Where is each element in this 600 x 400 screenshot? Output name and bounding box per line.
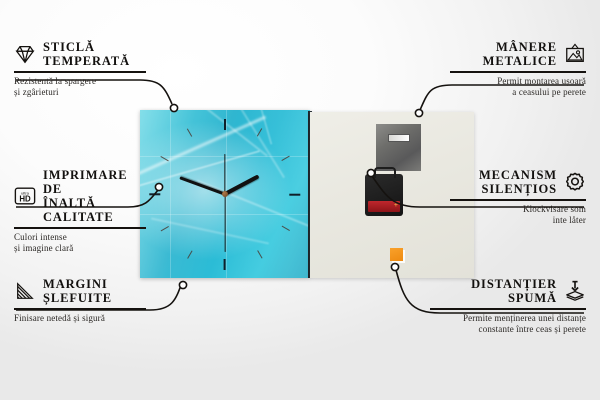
clock-tick bbox=[160, 156, 168, 162]
clock-center-cap bbox=[222, 191, 228, 197]
gear-icon bbox=[564, 171, 586, 193]
callout-title-line2: TEMPERATĂ bbox=[43, 54, 130, 68]
clock-face bbox=[140, 110, 310, 278]
clock-tick bbox=[160, 226, 168, 232]
bevelled-edge-icon bbox=[14, 280, 36, 302]
clock-tick bbox=[149, 194, 160, 196]
callout-title-line1: IMPRIMARE DE bbox=[43, 168, 146, 196]
callout-header: MECANISM SILENȚIOS bbox=[450, 168, 586, 196]
second-hand bbox=[224, 194, 225, 252]
callout-title-line1: MECANISM bbox=[479, 168, 557, 182]
foam-spacer-icon bbox=[564, 280, 586, 302]
clock-tick bbox=[281, 156, 289, 162]
clock-tick bbox=[187, 250, 193, 258]
callout-rule bbox=[14, 308, 146, 310]
clock-tick bbox=[224, 259, 226, 270]
callout-title-line2: SILENȚIOS bbox=[479, 182, 557, 196]
callout-header: MÂNERE METALICE bbox=[450, 40, 586, 68]
diamond-icon bbox=[14, 43, 36, 65]
callout-subtitle-line2: constante între ceas și perete bbox=[430, 324, 586, 335]
callout-margini-slefuite[interactable]: MARGINI ȘLEFUITE Finisare netedă și sigu… bbox=[14, 277, 146, 324]
callout-mecanism-silentios[interactable]: MECANISM SILENȚIOS Klockvisare som inte … bbox=[450, 168, 586, 226]
product-image: + bbox=[140, 110, 474, 280]
mechanism-hook bbox=[374, 167, 396, 178]
clock-tick bbox=[257, 250, 263, 258]
hour-hand bbox=[224, 174, 259, 195]
callout-rule bbox=[430, 308, 586, 310]
clock-tick bbox=[289, 194, 300, 196]
callout-sticla-temperata[interactable]: STICLĂ TEMPERATĂ Rezistentă la spargere … bbox=[14, 40, 146, 98]
callout-title-line1: MÂNERE bbox=[483, 40, 557, 54]
picture-frame-hanger-icon bbox=[564, 43, 586, 65]
clock-mechanism: + bbox=[365, 174, 403, 216]
clock-tick bbox=[187, 129, 193, 137]
metal-hanger bbox=[376, 124, 421, 171]
callout-title-line1: MARGINI bbox=[43, 277, 112, 291]
callout-rule bbox=[450, 199, 586, 201]
callout-title-line1: STICLĂ bbox=[43, 40, 130, 54]
callout-rule bbox=[450, 71, 586, 73]
callout-subtitle-line1: Culori intense bbox=[14, 232, 146, 243]
foam-spacer bbox=[390, 248, 403, 261]
callout-title-line2: ÎNALTĂ CALITATE bbox=[43, 196, 146, 224]
callout-rule bbox=[14, 71, 146, 73]
callout-rule bbox=[14, 227, 146, 229]
second-hand-tail bbox=[224, 154, 225, 194]
callout-title-line1: DISTANȚIER bbox=[471, 277, 557, 291]
battery: + bbox=[368, 201, 400, 212]
svg-text:HD: HD bbox=[19, 195, 31, 204]
callout-subtitle-line1: Rezistentă la spargere bbox=[14, 76, 146, 87]
callout-title-line2: SPUMĂ bbox=[471, 291, 557, 305]
callout-subtitle-line1: Permite menținerea unei distanțe bbox=[430, 313, 586, 324]
callout-header: MARGINI ȘLEFUITE bbox=[14, 277, 146, 305]
battery-plus-label: + bbox=[394, 202, 398, 209]
clock-tick bbox=[281, 226, 289, 232]
connector-dot-margini bbox=[179, 281, 186, 288]
callout-imprimare-hd[interactable]: ultra HD IMPRIMARE DE ÎNALTĂ CALITATE Cu… bbox=[14, 168, 146, 254]
callout-header: DISTANȚIER SPUMĂ bbox=[430, 277, 586, 305]
callout-header: ultra HD IMPRIMARE DE ÎNALTĂ CALITATE bbox=[14, 168, 146, 224]
callout-header: STICLĂ TEMPERATĂ bbox=[14, 40, 146, 68]
infographic-stage: + bbox=[0, 0, 600, 400]
callout-subtitle-line2: inte låter bbox=[450, 215, 586, 226]
callout-subtitle-line2: și imagine clară bbox=[14, 243, 146, 254]
callout-distantier-spuma[interactable]: DISTANȚIER SPUMĂ Permite menținerea unei… bbox=[430, 277, 586, 335]
callout-manere-metalice[interactable]: MÂNERE METALICE Permit montarea ușoară a… bbox=[450, 40, 586, 98]
hanger-slot bbox=[388, 134, 410, 142]
clock-tick bbox=[257, 129, 263, 137]
callout-subtitle-line2: și zgârieturi bbox=[14, 87, 146, 98]
callout-subtitle-line1: Finisare netedă și sigură bbox=[14, 313, 146, 324]
ultra-hd-icon: ultra HD bbox=[14, 185, 36, 207]
glass-clock-face bbox=[140, 110, 310, 278]
callout-subtitle-line2: a ceasului pe perete bbox=[450, 87, 586, 98]
clock-tick bbox=[224, 119, 226, 130]
callout-subtitle-line1: Klockvisare som bbox=[450, 204, 586, 215]
callout-subtitle-line1: Permit montarea ușoară bbox=[450, 76, 586, 87]
callout-title-line2: ȘLEFUITE bbox=[43, 291, 112, 305]
minute-hand bbox=[179, 176, 225, 196]
callout-title-line2: METALICE bbox=[483, 54, 557, 68]
